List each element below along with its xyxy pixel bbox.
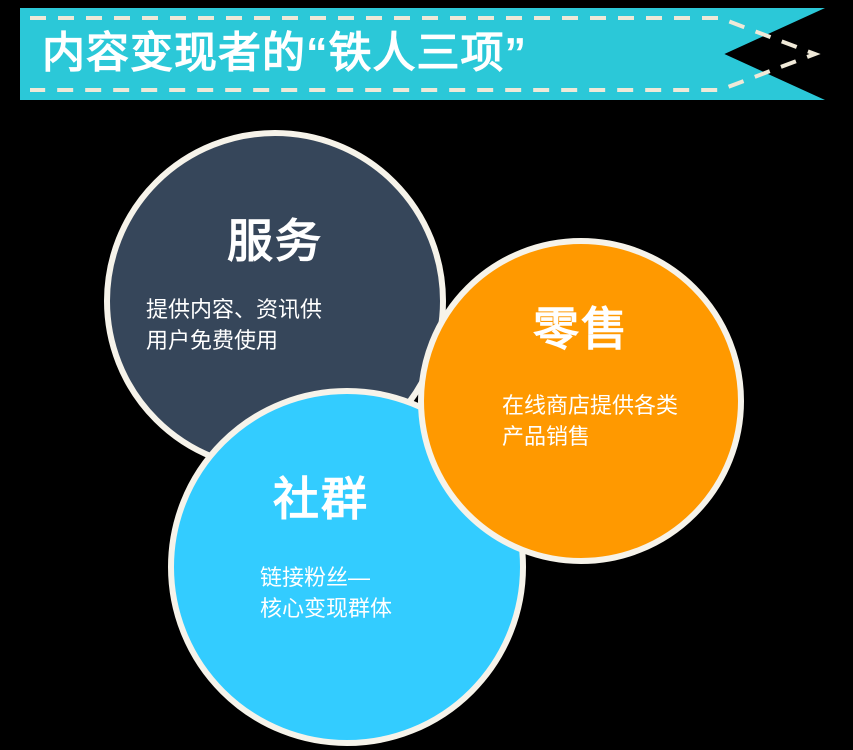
circle-service-description: 提供内容、资讯供 用户免费使用 <box>110 294 440 356</box>
circle-retail-description: 在线商店提供各类 产品销售 <box>424 390 738 452</box>
infographic-canvas: 内容变现者的“铁人三项” 服务 提供内容、资讯供 用户免费使用 社群 链接粉丝—… <box>0 0 853 750</box>
circle-service-title: 服务 <box>110 218 440 264</box>
circle-community-description: 链接粉丝— 核心变现群体 <box>174 562 520 624</box>
circle-retail[interactable]: 零售 在线商店提供各类 产品销售 <box>418 238 744 564</box>
header-ribbon: 内容变现者的“铁人三项” <box>20 8 825 100</box>
circle-retail-title: 零售 <box>424 306 738 352</box>
page-title: 内容变现者的“铁人三项” <box>42 33 527 76</box>
